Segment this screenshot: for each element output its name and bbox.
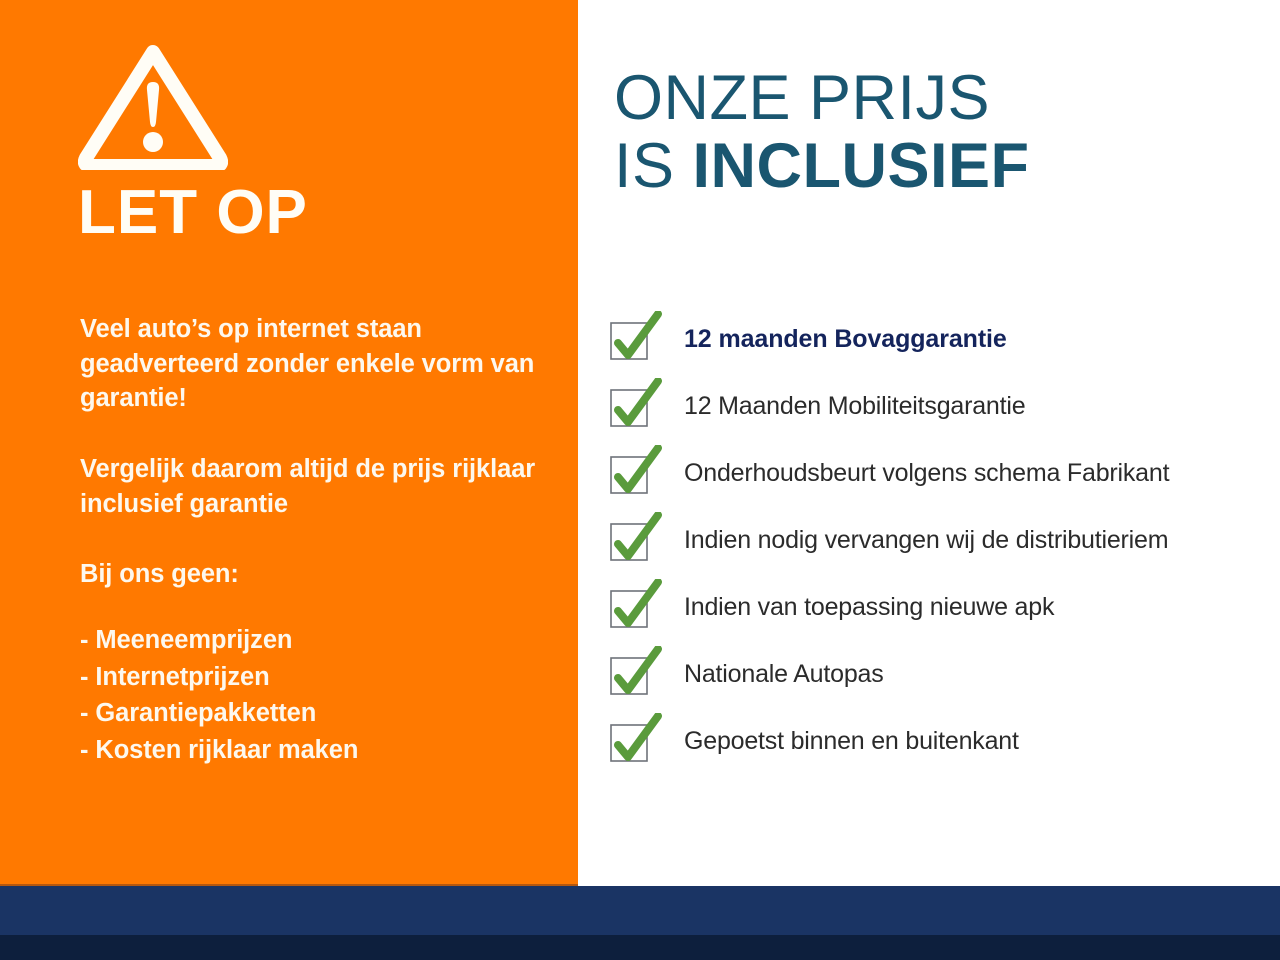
list-item: 12 Maanden Mobiliteitsgarantie [608,373,1268,440]
list-item: - Garantiepakketten [80,695,550,732]
list-item: - Meeneemprijzen [80,622,550,659]
warning-panel: LET OP Veel auto’s op internet staan gea… [0,0,578,886]
headline-inclusief-word: INCLUSIEF [693,131,1030,201]
list-item: Indien nodig vervangen wij de distributi… [608,507,1268,574]
list-item: Nationale Autopas [608,641,1268,708]
list-item: Gepoetst binnen en buitenkant [608,708,1268,775]
warning-paragraph-2: Vergelijk daarom altijd de prijs rijklaa… [80,452,550,521]
warning-paragraph-1: Veel auto’s op internet staan geadvertee… [80,312,550,416]
warning-paragraph-3: Bij ons geen: [80,557,550,592]
checkmark-icon [608,585,664,631]
let-op-title: LET OP [78,182,308,244]
list-item: - Kosten rijklaar maken [80,732,550,769]
checkmark-icon [608,317,664,363]
warning-body: Veel auto’s op internet staan geadvertee… [80,312,550,769]
checklist-label: Nationale Autopas [684,660,884,689]
list-item: 12 maanden Bovaggarantie [608,306,1268,373]
checkmark-icon [608,451,664,497]
page-title: ONZE PRIJS IS INCLUSIEF [614,64,1030,200]
inclusive-panel: ONZE PRIJS IS INCLUSIEF 12 maanden Bovag… [578,0,1280,886]
checkmark-icon [608,518,664,564]
footer-bar-shadow [0,935,1280,960]
warning-triangle-icon [78,42,228,170]
list-item: - Internetprijzen [80,659,550,696]
list-item: Indien van toepassing nieuwe apk [608,574,1268,641]
inclusions-checklist: 12 maanden Bovaggarantie 12 Maanden Mobi… [608,306,1268,775]
exclusions-list: - Meeneemprijzen - Internetprijzen - Gar… [80,622,550,769]
checklist-label: 12 maanden Bovaggarantie [684,325,1007,354]
checkmark-icon [608,719,664,765]
checkmark-icon [608,384,664,430]
headline-is-word: IS [614,131,693,201]
checklist-label: Gepoetst binnen en buitenkant [684,727,1019,756]
checklist-label: Onderhoudsbeurt volgens schema Fabrikant [684,459,1169,488]
footer-bar [0,886,1280,935]
headline-line-1: ONZE PRIJS [614,64,1030,132]
promo-banner: LET OP Veel auto’s op internet staan gea… [0,0,1280,960]
headline-line-2: IS INCLUSIEF [614,132,1030,200]
checklist-label: Indien nodig vervangen wij de distributi… [684,526,1168,555]
checklist-label: 12 Maanden Mobiliteitsgarantie [684,392,1025,421]
checkmark-icon [608,652,664,698]
list-item: Onderhoudsbeurt volgens schema Fabrikant [608,440,1268,507]
checklist-label: Indien van toepassing nieuwe apk [684,593,1054,622]
